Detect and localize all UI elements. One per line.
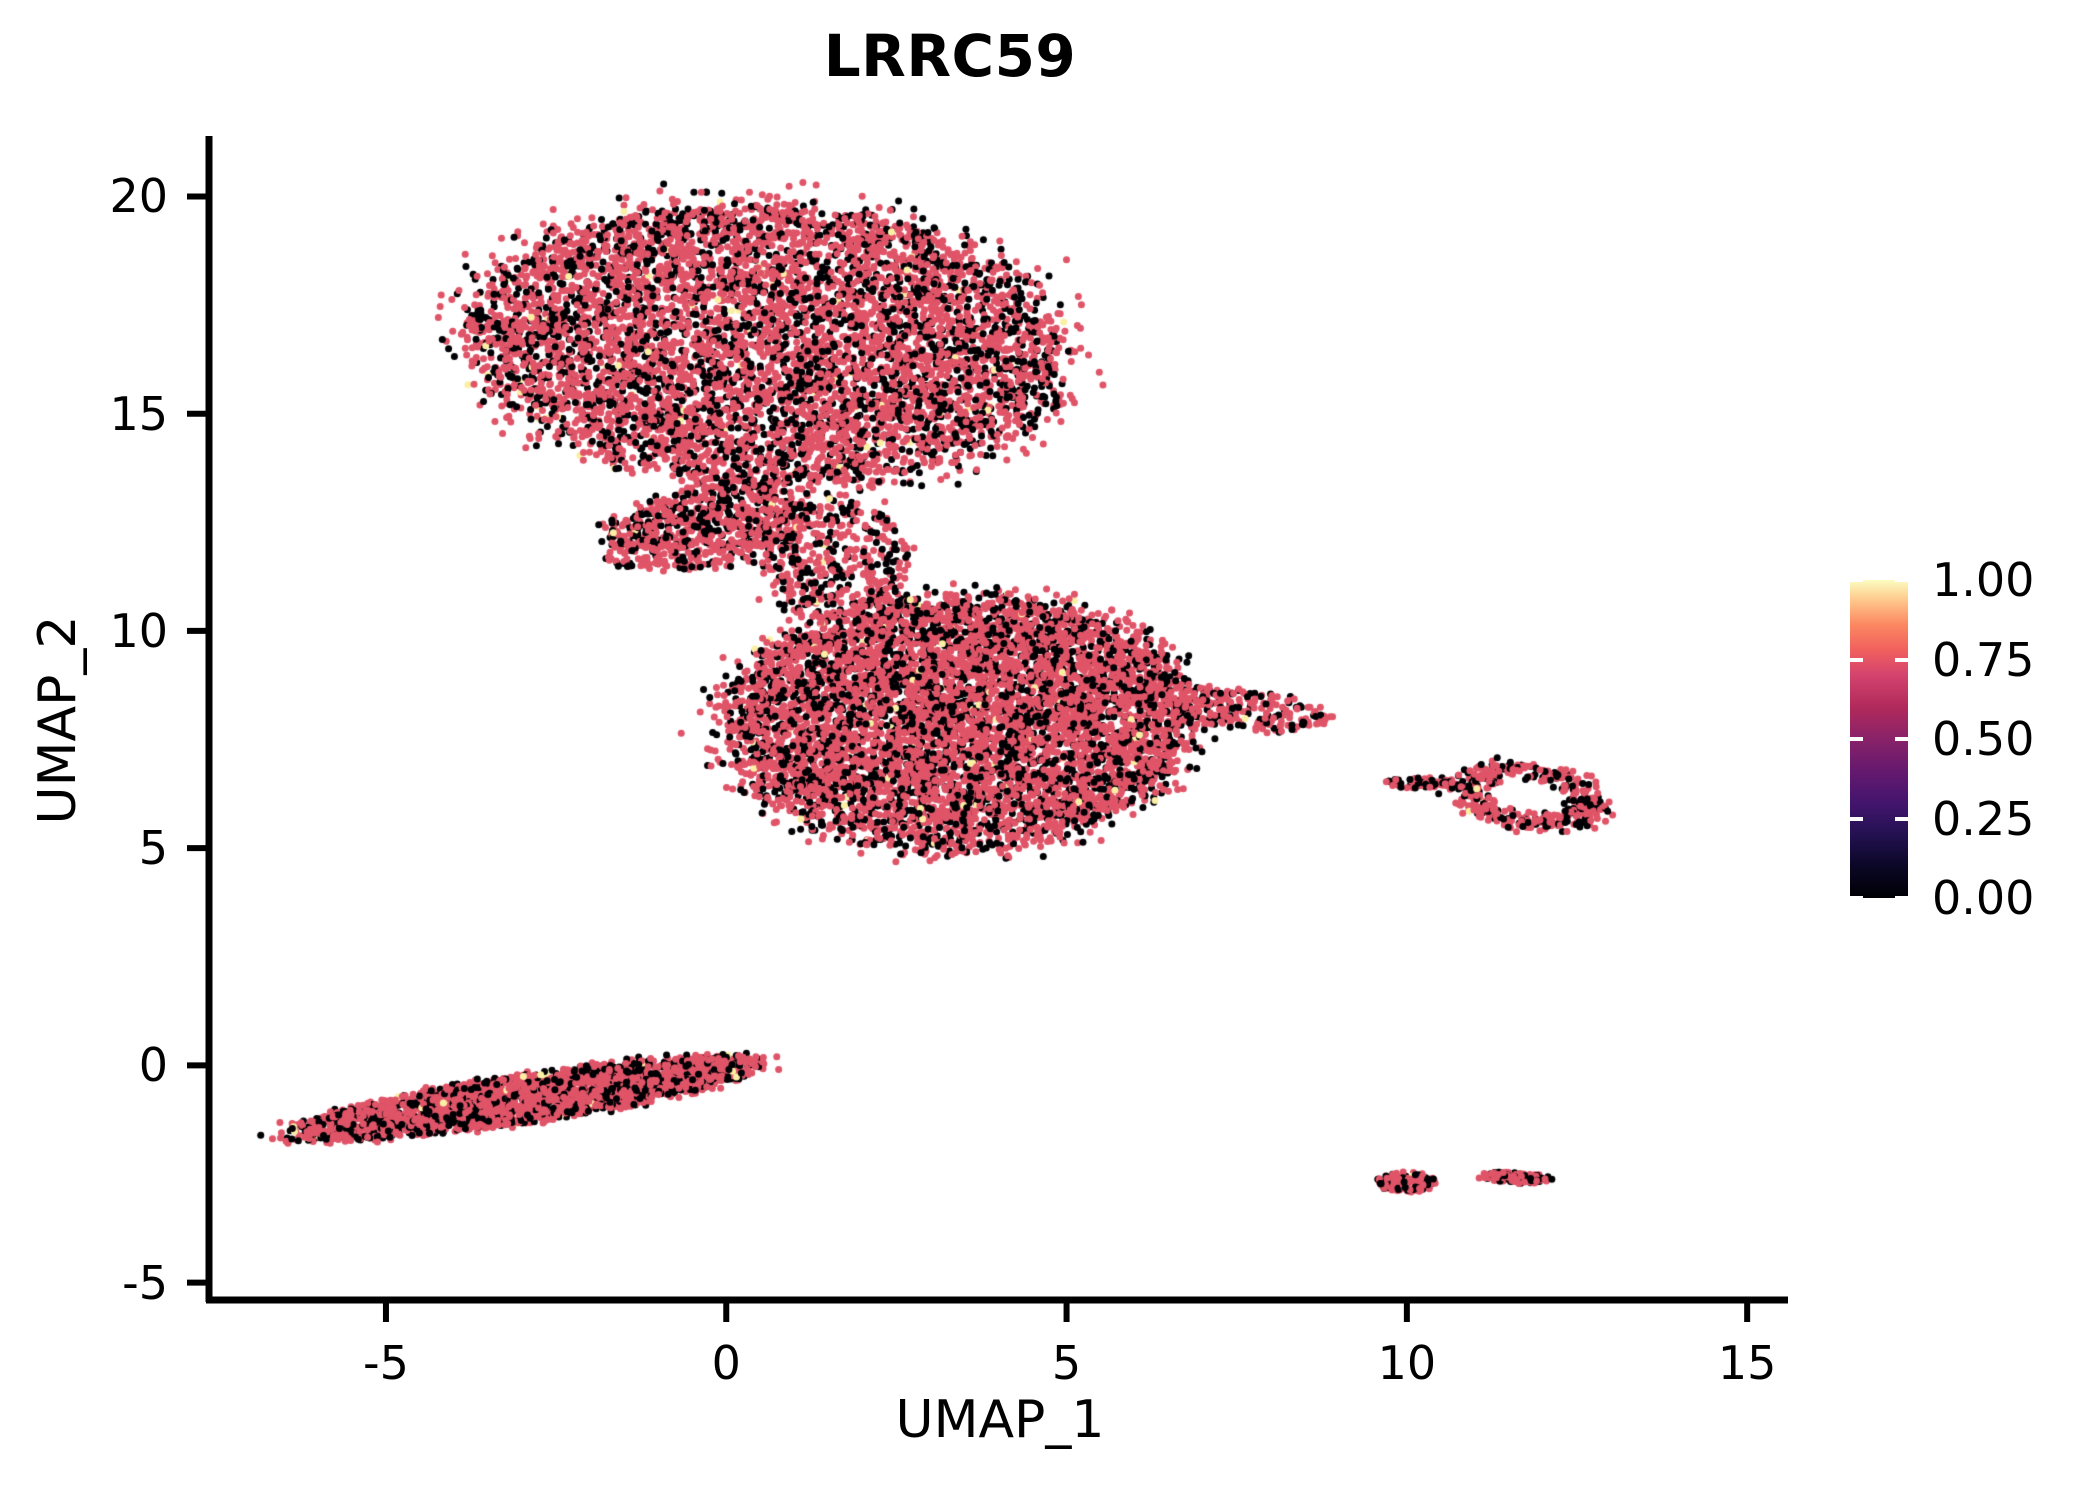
x-tick-label: 0 [712,1336,741,1390]
colorbar-tick-mark [1895,737,1908,741]
colorbar-tick-mark [1850,737,1863,741]
y-tick-label: -5 [0,1256,168,1310]
x-tick-label: 15 [1718,1336,1777,1390]
colorbar-tick-mark [1850,817,1863,821]
colorbar-tick-mark [1895,817,1908,821]
colorbar [1850,580,1908,898]
colorbar-tick-mark [1850,578,1863,582]
colorbar-tick-label: 1.00 [1932,553,2034,607]
x-tick-label: 5 [1052,1336,1081,1390]
y-tick-label: 15 [0,387,168,441]
colorbar-tick-label: 0.75 [1932,633,2034,687]
figure-root: LRRC59 -5051015 -505101520 UMAP_1 UMAP_2… [0,0,2100,1500]
colorbar-tick-label: 0.00 [1932,871,2034,925]
colorbar-tick-mark [1895,896,1908,900]
y-tick-label: 20 [0,169,168,223]
colorbar-tick-mark [1895,658,1908,662]
x-tick-label: 10 [1378,1336,1437,1390]
y-tick-label: 0 [0,1038,168,1092]
colorbar-tick-mark [1850,658,1863,662]
scatter-plot-canvas [0,0,2100,1500]
colorbar-tick-label: 0.25 [1932,792,2034,846]
colorbar-tick-label: 0.50 [1932,712,2034,766]
x-axis-label: UMAP_1 [896,1390,1105,1450]
y-tick-label: 5 [0,821,168,875]
x-tick-label: -5 [363,1336,409,1390]
colorbar-tick-mark [1895,578,1908,582]
colorbar-tick-mark [1850,896,1863,900]
y-axis-label: UMAP_2 [28,616,88,825]
